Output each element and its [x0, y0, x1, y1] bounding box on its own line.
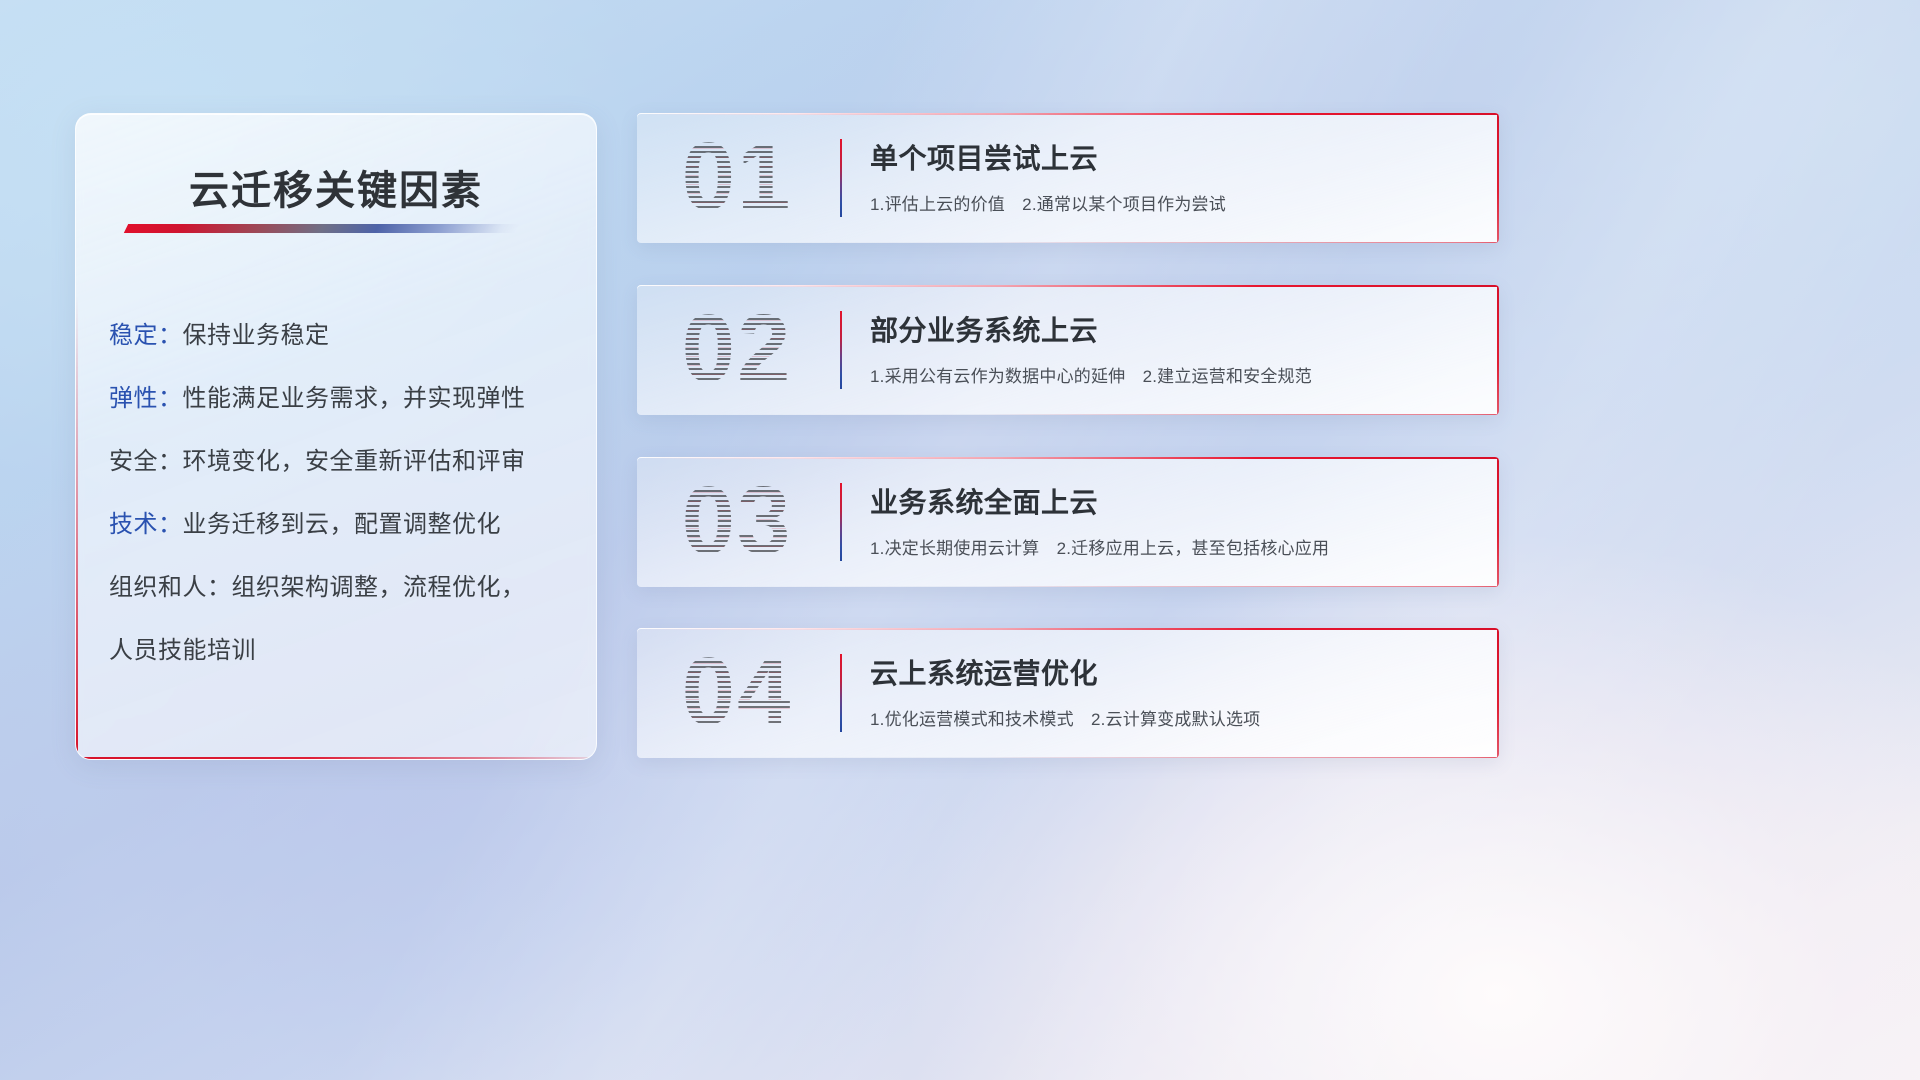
- stage-description: 1.评估上云的价值 2.通常以某个项目作为尝试: [870, 190, 1226, 215]
- card-bottom-accent: [637, 586, 1499, 587]
- list-item: 弹性：性能满足业务需求，并实现弹性: [109, 367, 570, 430]
- stage-number-ghost-tint: 01: [662, 121, 812, 233]
- card-right-accent: [1497, 285, 1499, 415]
- page-title: 云迁移关键因素: [76, 158, 596, 216]
- card-right-accent: [1497, 628, 1499, 758]
- list-item-key: 技术：: [109, 511, 183, 538]
- list-item: 人员技能培训: [109, 619, 570, 682]
- list-item-key: 稳定：: [109, 322, 183, 349]
- card-bottom-accent: [637, 757, 1499, 758]
- card-bottom-accent: [637, 242, 1499, 243]
- stage-title: 业务系统全面上云: [870, 481, 1098, 521]
- list-item-value: 保持业务稳定: [183, 322, 330, 349]
- card-right-accent: [1497, 457, 1499, 587]
- card-divider: [840, 483, 842, 561]
- stage-card-01[interactable]: 01 01 单个项目尝试上云 1.评估上云的价值 2.通常以某个项目作为尝试: [637, 113, 1499, 243]
- stage-description: 1.优化运营模式和技术模式 2.云计算变成默认选项: [870, 705, 1260, 730]
- card-right-accent: [1497, 113, 1499, 243]
- stage-number-ghost-tint: 03: [662, 465, 812, 577]
- card-top-accent: [637, 285, 1499, 287]
- stage-number-ghost-tint: 04: [662, 636, 812, 748]
- list-item-key: 弹性：: [109, 385, 183, 412]
- key-factors-panel: 云迁移关键因素 稳定：保持业务稳定 弹性：性能满足业务需求，并实现弹性 安全：环…: [75, 113, 597, 760]
- list-item-key: 安全：: [109, 448, 183, 475]
- panel-left-accent: [76, 295, 78, 759]
- stage-title: 单个项目尝试上云: [870, 137, 1098, 177]
- slide-canvas: 云迁移关键因素 稳定：保持业务稳定 弹性：性能满足业务需求，并实现弹性 安全：环…: [0, 0, 1920, 1080]
- list-item: 安全：环境变化，安全重新评估和评审: [109, 430, 570, 493]
- stage-description: 1.决定长期使用云计算 2.迁移应用上云，甚至包括核心应用: [870, 534, 1329, 559]
- list-item: 组织和人：组织架构调整，流程优化，: [109, 556, 570, 619]
- stage-card-03[interactable]: 03 03 业务系统全面上云 1.决定长期使用云计算 2.迁移应用上云，甚至包括…: [637, 457, 1499, 587]
- stage-title: 部分业务系统上云: [870, 309, 1098, 349]
- card-bottom-accent: [637, 414, 1499, 415]
- list-item-value: 组织架构调整，流程优化，: [232, 574, 526, 601]
- card-top-accent: [637, 113, 1499, 115]
- list-item-value: 人员技能培训: [109, 637, 256, 664]
- stage-description: 1.采用公有云作为数据中心的延伸 2.建立运营和安全规范: [870, 362, 1312, 387]
- card-divider: [840, 654, 842, 732]
- card-top-accent: [637, 628, 1499, 630]
- key-factors-list: 稳定：保持业务稳定 弹性：性能满足业务需求，并实现弹性 安全：环境变化，安全重新…: [109, 304, 570, 682]
- panel-bottom-accent: [76, 757, 594, 759]
- list-item-value: 业务迁移到云，配置调整优化: [183, 511, 502, 538]
- list-item: 稳定：保持业务稳定: [109, 304, 570, 367]
- list-item-value: 环境变化，安全重新评估和评审: [183, 448, 526, 475]
- stage-card-02[interactable]: 02 02 部分业务系统上云 1.采用公有云作为数据中心的延伸 2.建立运营和安…: [637, 285, 1499, 415]
- list-item-key: 组织和人：: [109, 574, 232, 601]
- stage-number-ghost-tint: 02: [662, 293, 812, 405]
- stage-card-04[interactable]: 04 04 云上系统运营优化 1.优化运营模式和技术模式 2.云计算变成默认选项: [637, 628, 1499, 758]
- card-top-accent: [637, 457, 1499, 459]
- list-item: 技术：业务迁移到云，配置调整优化: [109, 493, 570, 556]
- card-divider: [840, 311, 842, 389]
- card-divider: [840, 139, 842, 217]
- title-underline-gradient: [124, 224, 520, 233]
- stage-title: 云上系统运营优化: [870, 652, 1098, 692]
- list-item-value: 性能满足业务需求，并实现弹性: [183, 385, 526, 412]
